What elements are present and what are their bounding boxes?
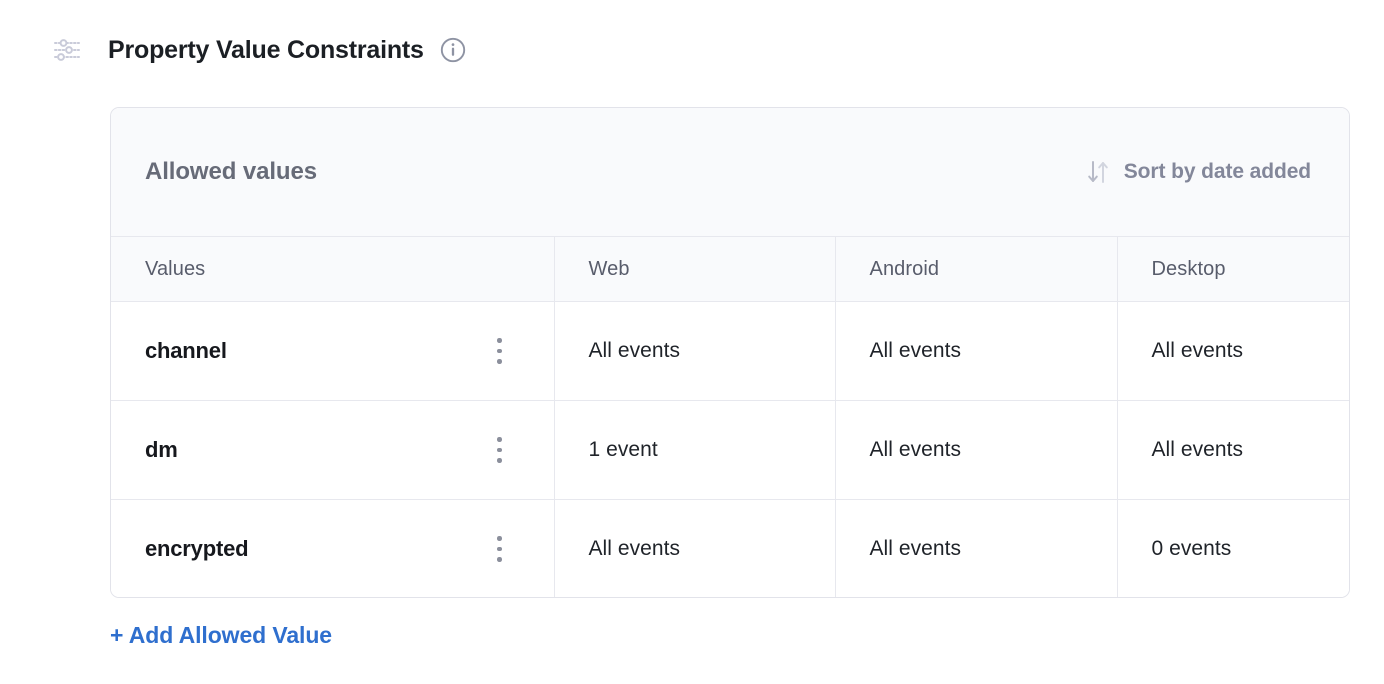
sort-label: Sort by date added [1124,160,1311,184]
table-row: encrypted All events All events 0 events [111,500,1349,599]
column-header-values[interactable]: Values [111,237,554,302]
value-name: dm [145,437,178,463]
table-header-row: Values Web Android Desktop [111,237,1349,302]
table-body: channel All events All events All events… [111,302,1349,599]
table-header: Values Web Android Desktop [111,237,1349,302]
column-header-web[interactable]: Web [554,237,835,302]
page-root: Property Value Constraints Allowed value… [0,0,1384,684]
sliders-icon [52,35,82,65]
cell-value: channel [111,302,554,401]
add-allowed-value-button[interactable]: + Add Allowed Value [110,622,332,649]
cell-android[interactable]: All events [835,302,1117,401]
value-name: channel [145,338,227,364]
value-name: encrypted [145,536,248,562]
table-row: dm 1 event All events All events [111,401,1349,500]
column-header-android[interactable]: Android [835,237,1117,302]
cell-value: encrypted [111,500,554,599]
cell-desktop[interactable]: All events [1117,401,1349,500]
section-header: Property Value Constraints [52,28,466,72]
cell-web[interactable]: 1 event [554,401,835,500]
cell-value: dm [111,401,554,500]
sort-arrows-icon [1086,159,1110,185]
cell-desktop[interactable]: All events [1117,302,1349,401]
cell-desktop[interactable]: 0 events [1117,500,1349,599]
table-row: channel All events All events All events [111,302,1349,401]
info-icon[interactable] [440,37,466,63]
card-title: Allowed values [145,158,317,186]
cell-android[interactable]: All events [835,500,1117,599]
page-title: Property Value Constraints [108,36,424,65]
column-header-desktop[interactable]: Desktop [1117,237,1349,302]
kebab-menu-icon[interactable] [487,433,513,467]
sort-by-date-added-button[interactable]: Sort by date added [1086,159,1311,185]
kebab-menu-icon[interactable] [487,334,513,368]
cell-android[interactable]: All events [835,401,1117,500]
allowed-values-card: Allowed values Sort by date adde [110,107,1350,598]
card-header: Allowed values Sort by date adde [111,108,1349,237]
allowed-values-table: Values Web Android Desktop channel All e… [111,237,1349,598]
cell-web[interactable]: All events [554,302,835,401]
cell-web[interactable]: All events [554,500,835,599]
kebab-menu-icon[interactable] [487,532,513,566]
